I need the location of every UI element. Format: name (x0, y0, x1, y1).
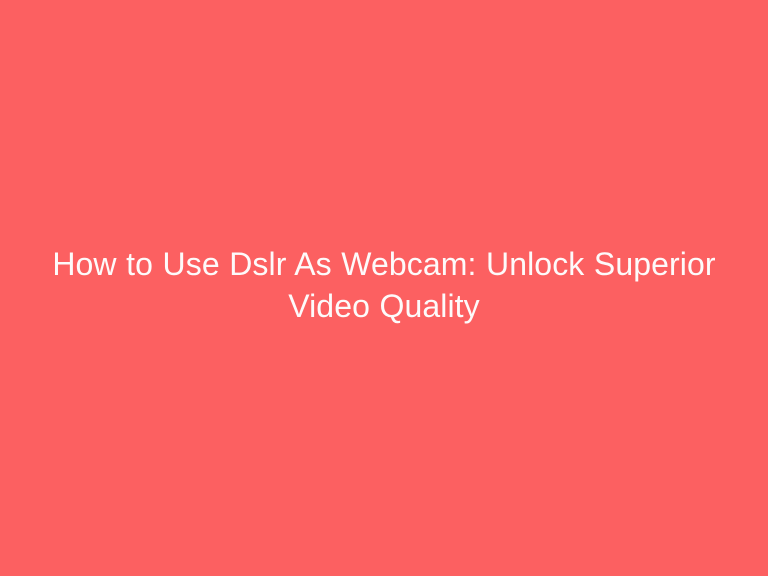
featured-image-card: How to Use Dslr As Webcam: Unlock Superi… (0, 0, 768, 576)
page-title: How to Use Dslr As Webcam: Unlock Superi… (0, 243, 768, 327)
